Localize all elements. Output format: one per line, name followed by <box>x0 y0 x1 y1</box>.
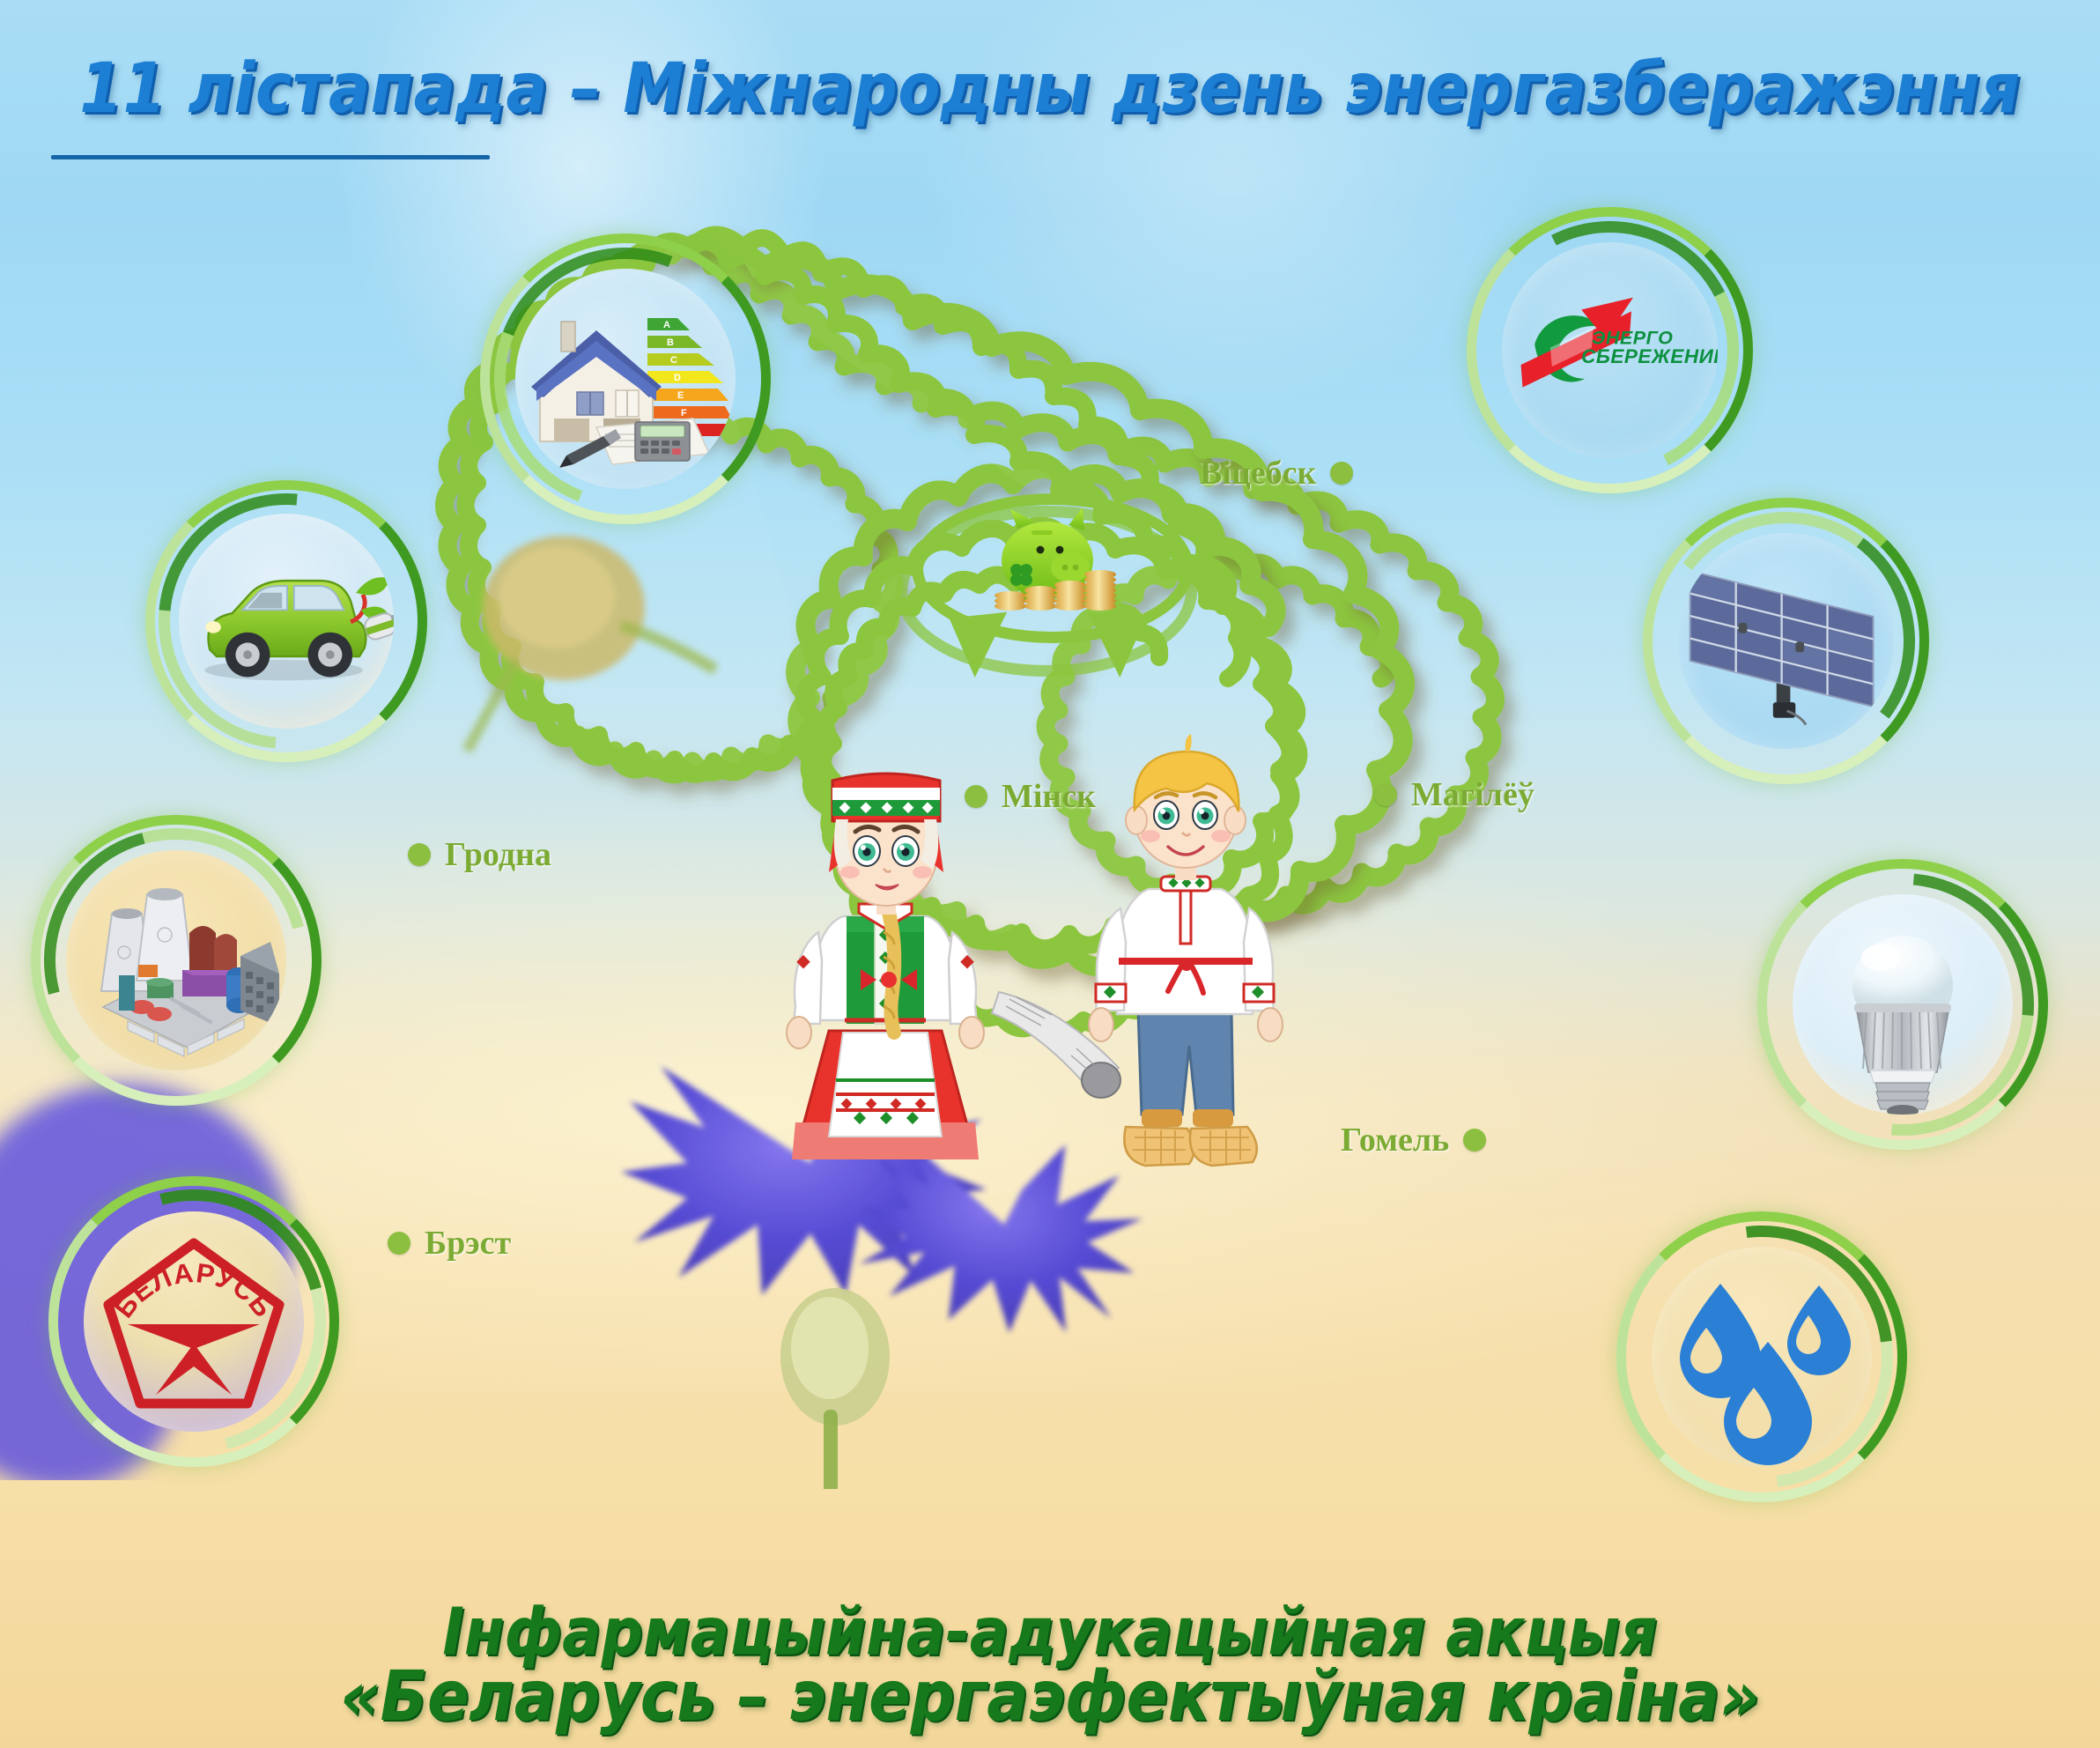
svg-text:БЕЛАРУСЬ: БЕЛАРУСЬ <box>108 1257 279 1323</box>
city-name-hrodna: Гродна <box>445 835 551 874</box>
badge-power-plant[interactable] <box>31 815 322 1106</box>
energy-saving-logo-icon: ЭНЕРГО СБЕРЕЖЕНИЕ <box>1502 242 1718 458</box>
page-title: 11 лістапада – Міжнародны дзень энергазб… <box>0 48 2100 129</box>
city-name-vicebsk: Віцебск <box>1200 454 1316 493</box>
city-label-homiel: Гомель <box>1341 1121 1486 1159</box>
badge-energy-saving-logo[interactable]: ЭНЕРГО СБЕРЕЖЕНИЕ <box>1467 207 1753 493</box>
piggy-bank-icon <box>966 506 1142 638</box>
badge-solar-panel[interactable] <box>1643 498 1929 784</box>
logo-text-line2: СБЕРЕЖЕНИЕ <box>1581 345 1718 367</box>
electric-car-icon <box>179 514 394 729</box>
badge-energy-efficient-house[interactable]: ABC DEF G <box>480 233 771 524</box>
led-bulb-icon <box>1793 894 2013 1115</box>
city-label-mahilou: Магілёў <box>1374 775 1534 814</box>
quality-mark-text: БЕЛАРУСЬ <box>108 1257 279 1323</box>
city-name-mahilou: Магілёў <box>1411 775 1534 814</box>
badge-content-water <box>1652 1247 1872 1467</box>
badge-content-bulb <box>1793 894 2013 1115</box>
city-name-brest: Брэст <box>425 1224 511 1263</box>
belarusian-boy-icon <box>1057 700 1312 1229</box>
power-plant-icon <box>66 850 286 1070</box>
savings-speech-bubble <box>912 493 1194 643</box>
svg-text:F: F <box>681 408 687 418</box>
campaign-line-2: «Беларусь – энергаэфектыўная краіна» <box>0 1660 2100 1735</box>
campaign-caption: Інфармацыйна-адукацыйная акцыя «Беларусь… <box>0 1601 2100 1730</box>
energy-efficient-house-icon: ABC DEF G <box>515 269 736 489</box>
city-label-hrodna: Гродна <box>408 835 551 874</box>
badge-led-bulb[interactable] <box>1757 859 2048 1150</box>
svg-text:A: A <box>663 320 670 330</box>
badge-content-car <box>179 514 394 729</box>
poster-canvas: 11 лістапада – Міжнародны дзень энергазб… <box>0 0 2100 1748</box>
city-dot-mahilou <box>1374 783 1397 806</box>
badge-content-house: ABC DEF G <box>515 269 736 489</box>
svg-text:B: B <box>667 337 674 348</box>
badge-content-solar <box>1678 533 1894 749</box>
belarusian-girl-icon <box>744 696 1026 1207</box>
svg-text:E: E <box>677 390 684 401</box>
city-label-vicebsk: Віцебск <box>1200 454 1353 493</box>
badge-water-drops[interactable] <box>1616 1211 1907 1502</box>
title-underline <box>51 155 490 159</box>
city-name-homiel: Гомель <box>1341 1121 1449 1159</box>
badge-content-logo: ЭНЕРГО СБЕРЕЖЕНИЕ <box>1502 242 1718 458</box>
badge-electric-car[interactable] <box>145 480 427 762</box>
water-drops-icon <box>1652 1247 1872 1467</box>
svg-text:C: C <box>670 355 677 366</box>
city-dot-vicebsk <box>1330 462 1353 485</box>
city-dot-hrodna <box>408 843 431 866</box>
svg-text:D: D <box>674 373 681 383</box>
belarus-quality-mark-icon: БЕЛАРУСЬ <box>84 1211 304 1432</box>
badge-content-quality-mark: БЕЛАРУСЬ <box>84 1211 304 1432</box>
city-dot-brest <box>388 1232 410 1255</box>
city-dot-homiel <box>1463 1129 1486 1152</box>
solar-panel-icon <box>1678 533 1894 749</box>
badge-content-plant <box>66 850 286 1070</box>
city-label-brest: Брэст <box>388 1224 511 1263</box>
badge-belarus-quality-mark[interactable]: БЕЛАРУСЬ <box>48 1176 339 1467</box>
